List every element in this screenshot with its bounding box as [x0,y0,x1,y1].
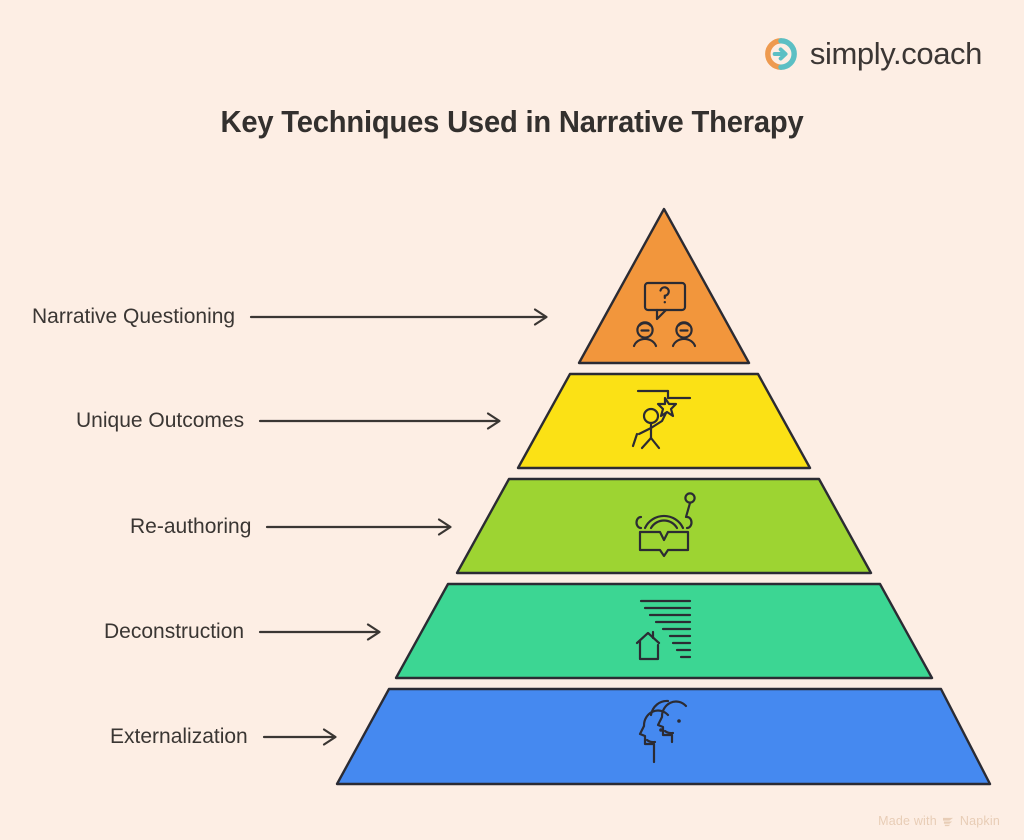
pyramid-level-4-shape[interactable] [396,584,932,678]
infographic-canvas: simply.coach Key Techniques Used in Narr… [0,0,1024,840]
pyramid-level-3-shape[interactable] [457,479,871,573]
label-row-externalization: Externalization [110,722,346,752]
label-row-narrative-questioning: Narrative Questioning [32,302,557,332]
napkin-logo-icon [942,816,955,827]
connector-arrow-5 [262,727,346,747]
label-row-unique-outcomes: Unique Outcomes [76,406,510,436]
connector-arrow-2 [258,411,510,431]
footer-credit: Made with Napkin [878,814,1000,828]
connector-arrow-4 [258,622,390,642]
footer-credit-brand: Napkin [960,814,1000,828]
connector-arrow-3 [265,517,461,537]
pyramid-level-5-shape[interactable] [337,689,990,784]
pyramid-level-5[interactable] [337,689,990,784]
level-label-unique-outcomes: Unique Outcomes [76,409,244,433]
footer-credit-prefix: Made with [878,814,937,828]
pyramid-level-2[interactable] [518,374,810,468]
level-label-externalization: Externalization [110,725,248,749]
connector-arrow-1 [249,307,557,327]
label-row-deconstruction: Deconstruction [104,617,390,647]
pyramid-level-4[interactable] [396,584,932,678]
level-label-re-authoring: Re-authoring [130,515,251,539]
label-row-re-authoring: Re-authoring [130,512,461,542]
pyramid-level-3[interactable] [457,479,871,573]
level-label-deconstruction: Deconstruction [104,620,244,644]
pyramid-level-1-shape[interactable] [579,209,749,363]
level-label-narrative-questioning: Narrative Questioning [32,305,235,329]
pyramid-level-1[interactable] [579,209,749,363]
pyramid-level-2-shape[interactable] [518,374,810,468]
